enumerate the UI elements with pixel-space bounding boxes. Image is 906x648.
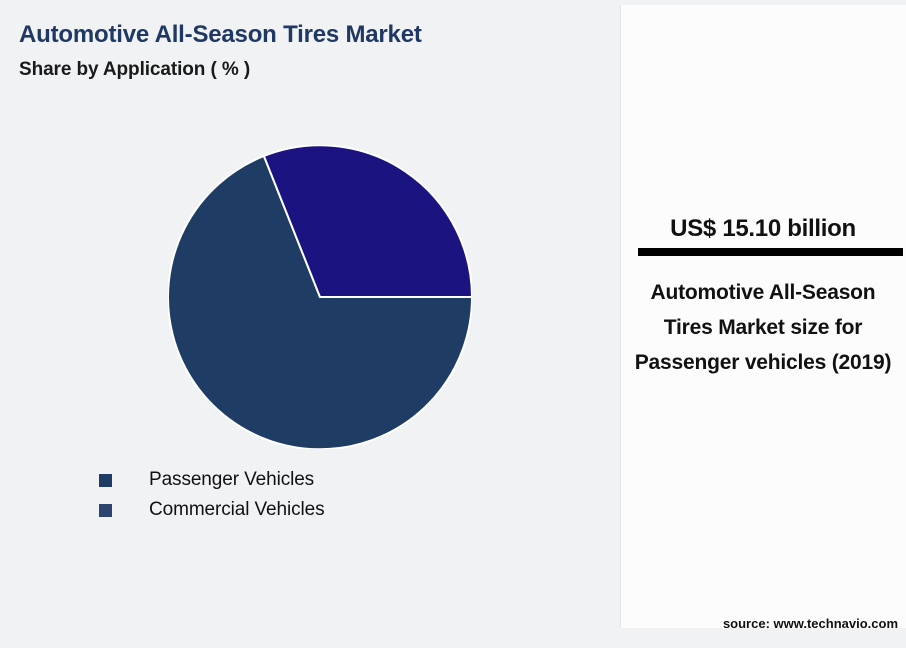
callout-divider xyxy=(638,248,903,256)
legend-item-passenger-vehicles[interactable]: Passenger Vehicles xyxy=(99,465,325,495)
callout-value: US$ 15.10 billion xyxy=(620,215,906,243)
source-note: source: www.technavio.com xyxy=(620,616,906,631)
chart-panel: Automotive All-Season Tires Market Share… xyxy=(0,0,620,648)
legend-swatch-icon xyxy=(99,474,112,487)
legend-item-label: Commercial Vehicles xyxy=(149,499,325,521)
chart-legend: Passenger Vehicles Commercial Vehicles xyxy=(99,465,325,525)
legend-item-label: Passenger Vehicles xyxy=(149,469,314,491)
pie-chart xyxy=(168,145,472,449)
callout-caption: Automotive All-Season Tires Market size … xyxy=(634,275,892,380)
legend-swatch-icon xyxy=(99,504,112,517)
chart-subtitle: Share by Application ( % ) xyxy=(19,59,250,81)
legend-item-commercial-vehicles[interactable]: Commercial Vehicles xyxy=(99,495,325,525)
infographic-canvas: Automotive All-Season Tires Market Share… xyxy=(0,0,906,648)
page-title: Automotive All-Season Tires Market xyxy=(19,21,422,49)
